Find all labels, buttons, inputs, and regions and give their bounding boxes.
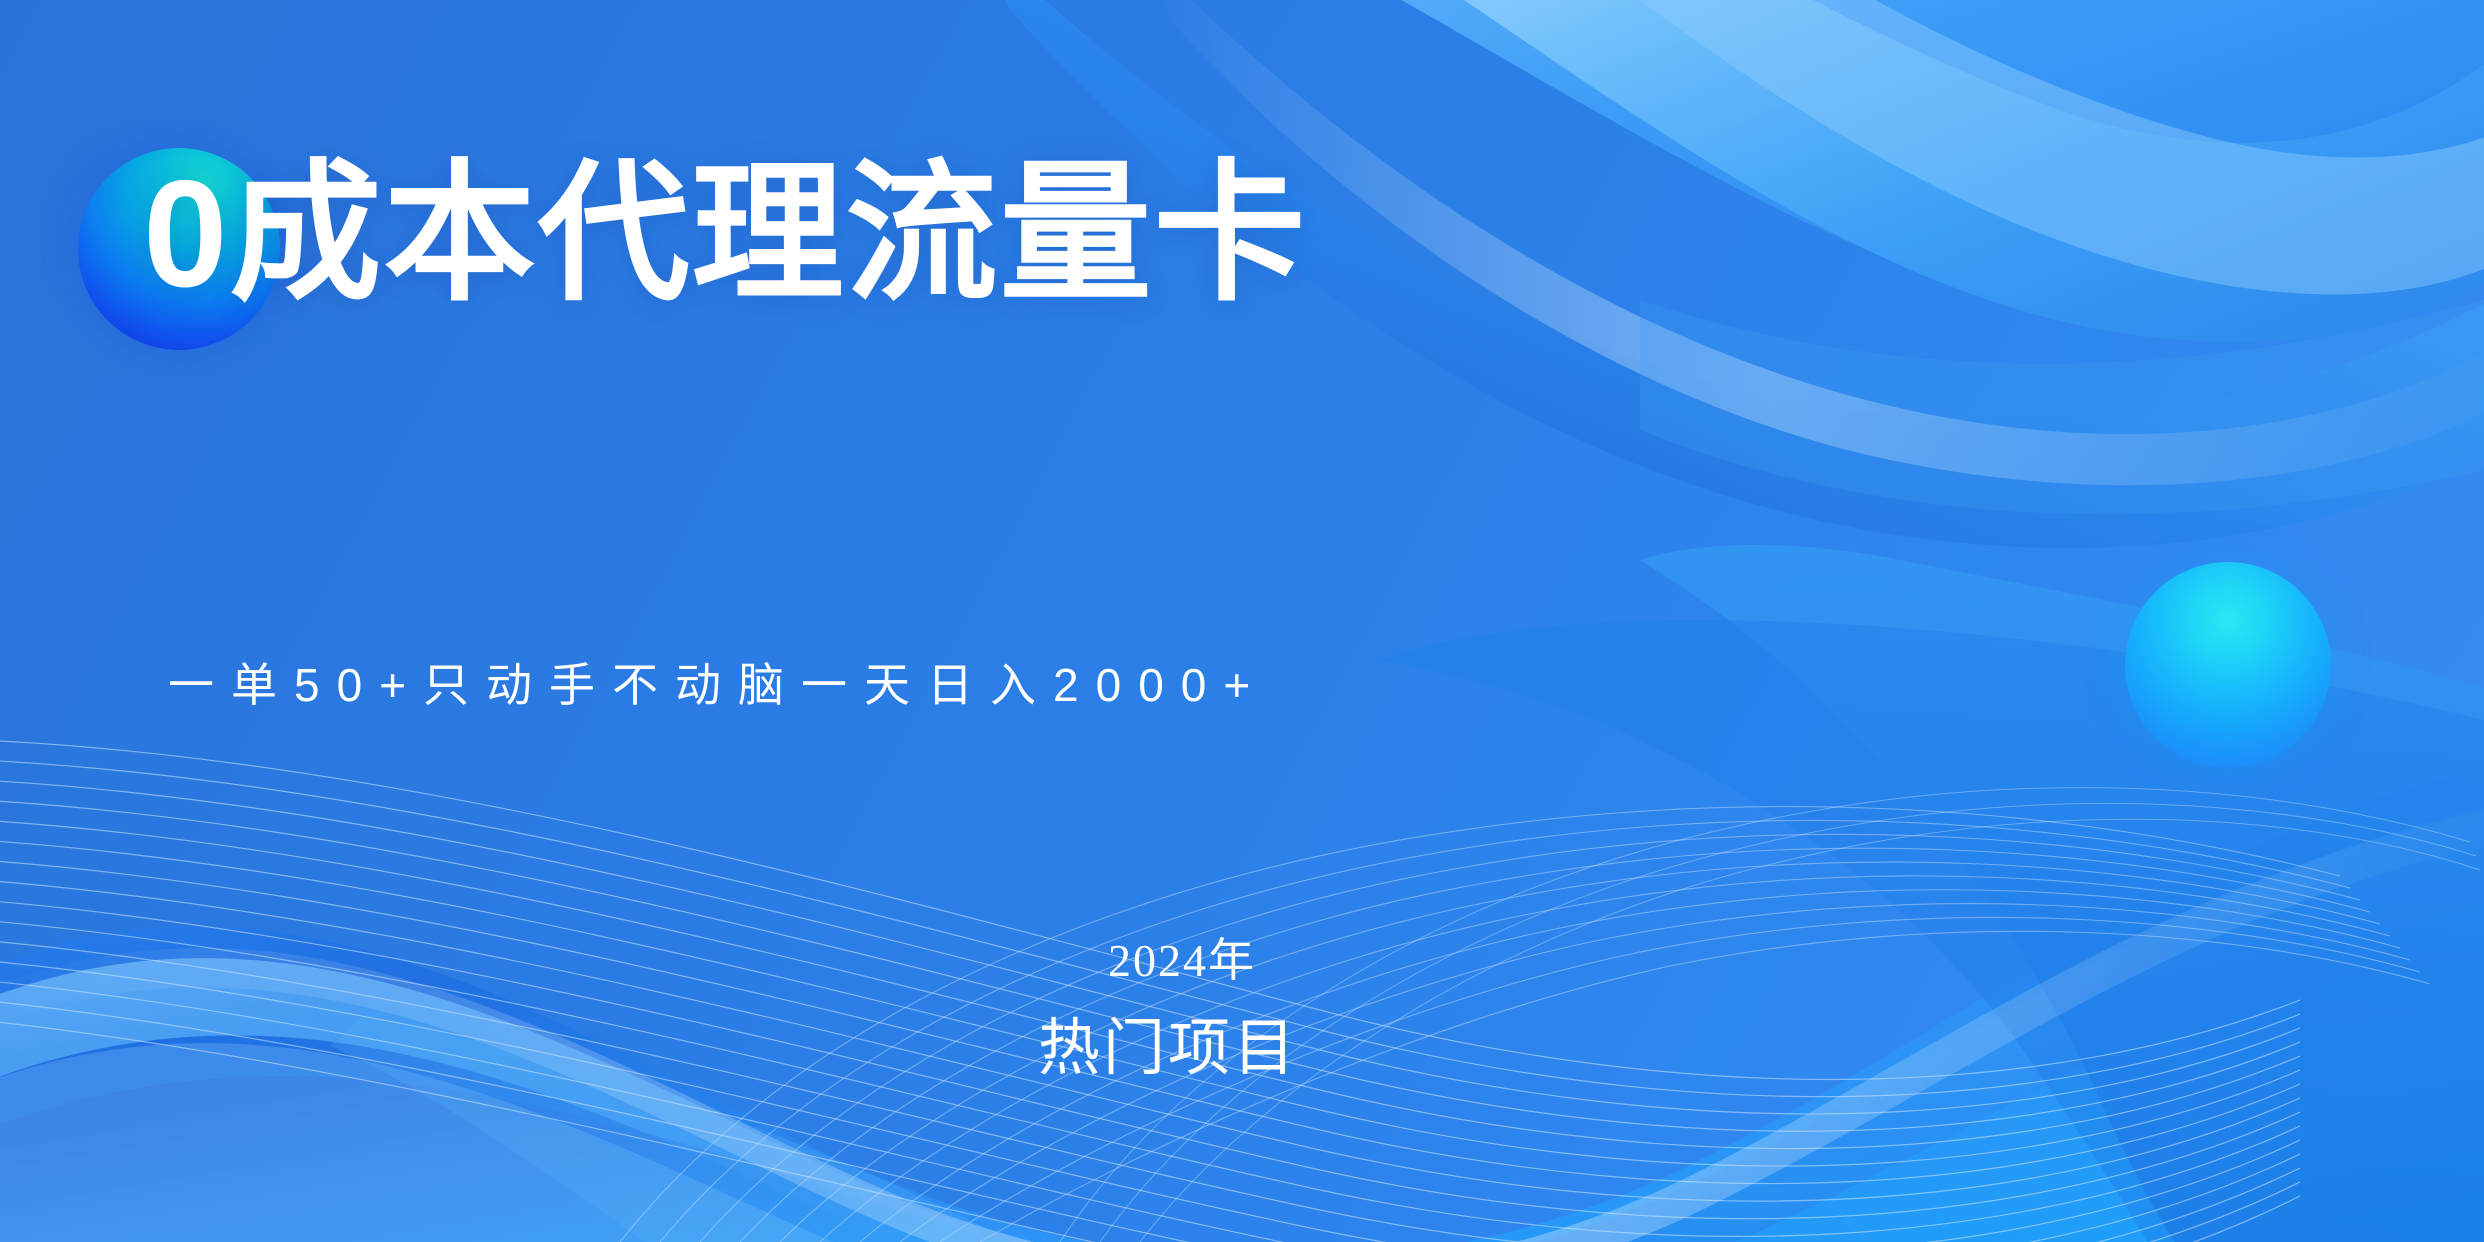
badge-topic-label: 热门项目: [1038, 1018, 1298, 1080]
badge-year-label: 2024年: [1108, 938, 1256, 984]
poster-headline: 0成本代理流量卡: [143, 158, 1308, 310]
cyan-blue-gradient-sphere: [2125, 562, 2331, 768]
poster-canvas: 0成本代理流量卡 一单50+只动手不动脑一天日入2000+ 2024年 热门项目: [0, 0, 2484, 1242]
poster-subheadline: 一单50+只动手不动脑一天日入2000+: [168, 662, 1267, 708]
